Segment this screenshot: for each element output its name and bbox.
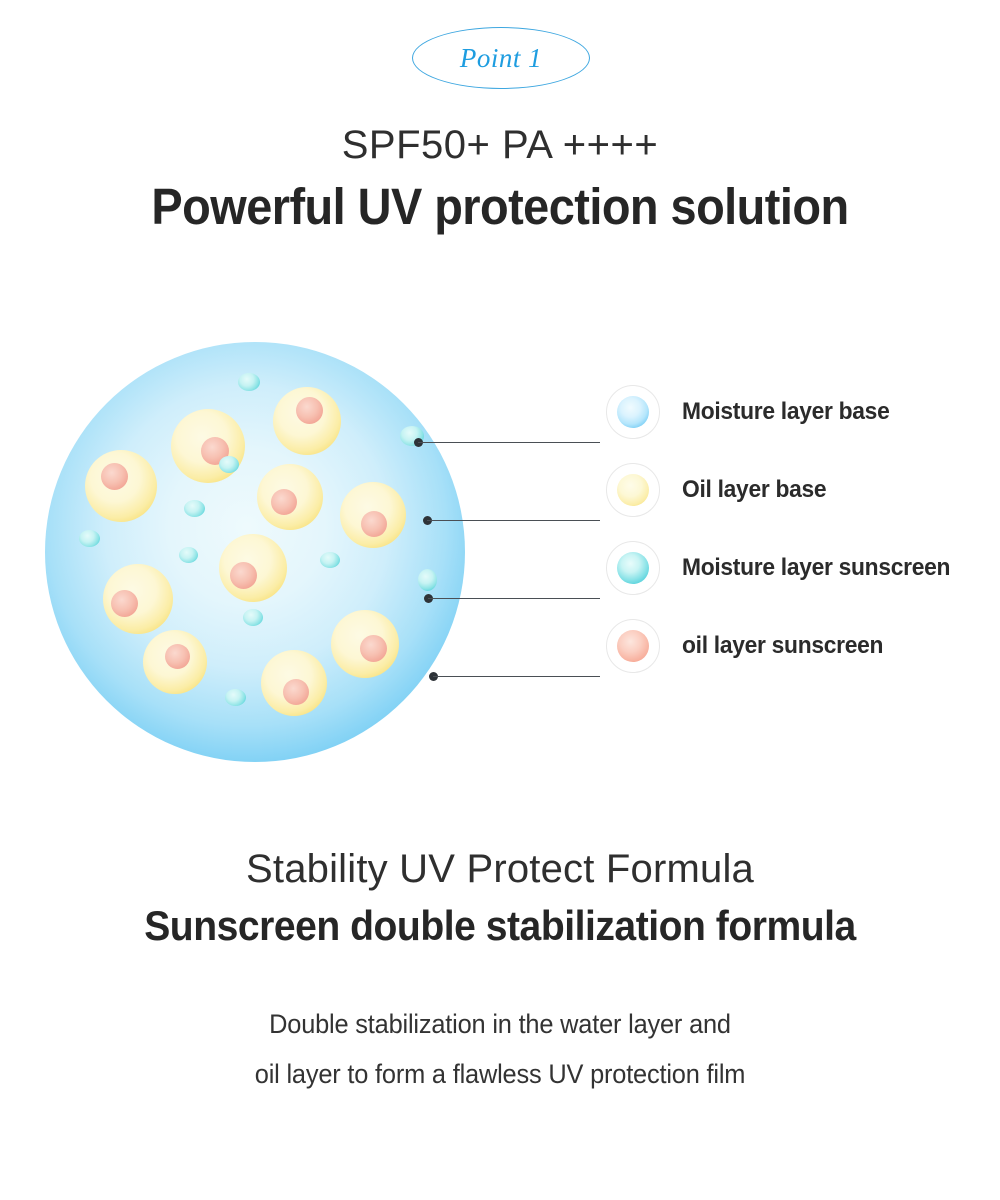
oil-layer-base-swatch-ring xyxy=(606,463,660,517)
oil-layer-sunscreen-swatch-ring xyxy=(606,619,660,673)
legend-label-4: oil layer sunscreen xyxy=(682,632,883,660)
legend-item-4: oil layer sunscreen xyxy=(606,614,894,678)
oil-layer-sunscreen-core xyxy=(271,489,297,515)
double-stabilization-title: Sunscreen double stabilization formula xyxy=(35,903,965,948)
footer-line-2: oil layer to form a flawless UV protecti… xyxy=(30,1050,970,1100)
leader-line xyxy=(433,676,600,677)
leader-line xyxy=(427,520,600,521)
moisture-layer-dot xyxy=(179,547,198,563)
legend-label-2: Oil layer base xyxy=(682,476,826,504)
spf-rating-text: SPF50+ PA ++++ xyxy=(0,124,1000,166)
oil-layer-droplet xyxy=(273,387,341,455)
legend-item-1: Moisture layer base xyxy=(606,380,900,444)
moisture-layer-dot xyxy=(320,552,340,568)
point-badge-label: Point 1 xyxy=(460,43,542,74)
moisture-layer-dot xyxy=(238,373,260,391)
heading-block: SPF50+ PA ++++ Powerful UV protection so… xyxy=(0,124,1000,234)
moisture-layer-sunscreen-swatch xyxy=(617,552,649,584)
oil-layer-droplet xyxy=(85,450,157,522)
emulsion-sphere xyxy=(45,342,465,762)
moisture-layer-dot xyxy=(225,689,246,706)
legend-label-3: Moisture layer sunscreen xyxy=(682,554,950,582)
moisture-layer-dot xyxy=(418,569,437,591)
oil-layer-sunscreen-core xyxy=(360,635,387,662)
moisture-layer-dot xyxy=(184,500,205,517)
oil-layer-sunscreen-core xyxy=(230,562,257,589)
leader-line xyxy=(428,598,600,599)
oil-layer-sunscreen-core xyxy=(283,679,309,705)
legend-item-3: Moisture layer sunscreen xyxy=(606,536,964,600)
legend-label-1: Moisture layer base xyxy=(682,398,889,426)
moisture-layer-sunscreen-swatch-ring xyxy=(606,541,660,595)
oil-layer-droplet xyxy=(143,630,207,694)
oil-layer-droplet xyxy=(261,650,327,716)
leader-line xyxy=(418,442,600,443)
page-title: Powerful UV protection solution xyxy=(40,180,960,234)
oil-layer-droplet xyxy=(257,464,323,530)
point-badge: Point 1 xyxy=(412,27,590,89)
moisture-layer-dot xyxy=(243,609,263,626)
footer-line-1: Double stabilization in the water layer … xyxy=(30,1000,970,1050)
moisture-layer-base-swatch-ring xyxy=(606,385,660,439)
bottom-heading-block: Stability UV Protect Formula Sunscreen d… xyxy=(0,848,1000,949)
moisture-layer-dot xyxy=(219,456,239,473)
oil-layer-sunscreen-core xyxy=(101,463,128,490)
oil-layer-sunscreen-core xyxy=(361,511,387,537)
moisture-layer-dot xyxy=(79,530,100,547)
moisture-layer-base-swatch xyxy=(617,396,649,428)
oil-layer-droplet xyxy=(103,564,173,634)
stability-formula-text: Stability UV Protect Formula xyxy=(0,848,1000,891)
oil-layer-sunscreen-swatch xyxy=(617,630,649,662)
oil-layer-droplet xyxy=(340,482,406,548)
oil-layer-base-swatch xyxy=(617,474,649,506)
oil-layer-droplet xyxy=(219,534,287,602)
oil-layer-sunscreen-core xyxy=(296,397,323,424)
oil-layer-droplet xyxy=(331,610,399,678)
footer-description: Double stabilization in the water layer … xyxy=(0,1000,1000,1100)
oil-layer-sunscreen-core xyxy=(165,644,190,669)
oil-layer-sunscreen-core xyxy=(111,590,138,617)
legend-item-2: Oil layer base xyxy=(606,458,834,522)
